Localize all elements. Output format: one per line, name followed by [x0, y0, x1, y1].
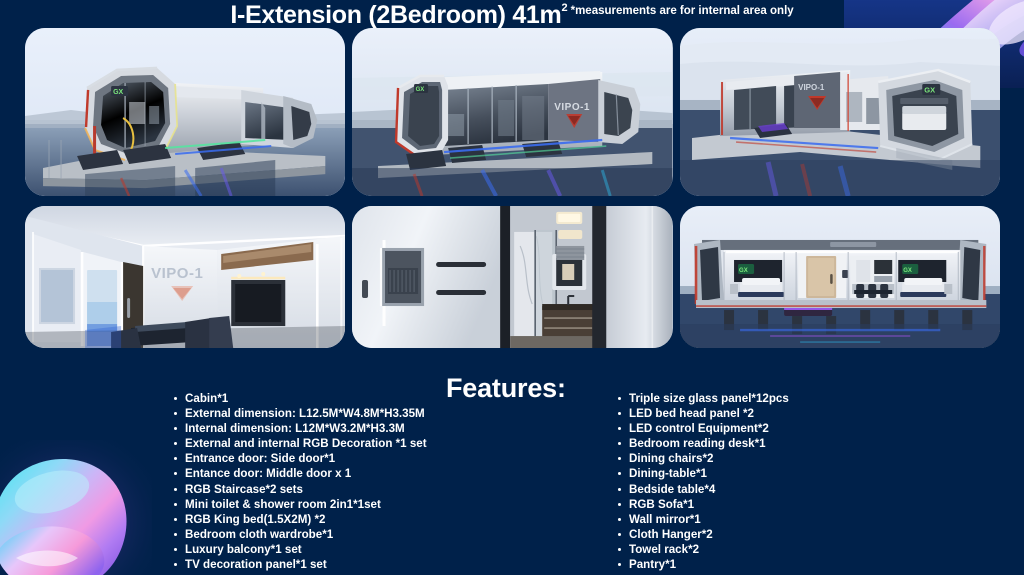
list-item: LED bed head panel *2 [616, 406, 789, 421]
gallery-row-bottom: VIPO-1 [25, 206, 1000, 348]
features-right-column: Triple size glass panel*12pcs LED bed he… [616, 391, 789, 572]
gallery-image-cutaway-floorplan-view[interactable]: GX [680, 206, 1000, 348]
list-item: Towel rack*2 [616, 542, 789, 557]
list-item: Luxury balcony*1 set [172, 542, 427, 557]
svg-text:GX: GX [903, 268, 912, 274]
list-item: Entrance door: Side door*1 [172, 451, 427, 466]
svg-text:VIPO-1: VIPO-1 [151, 265, 203, 282]
list-item: Dining-table*1 [616, 466, 789, 481]
list-item: Wall mirror*1 [616, 512, 789, 527]
svg-text:VIPO-1: VIPO-1 [798, 83, 825, 92]
poster-canvas: I-Extension (2Bedroom) 41m 2 *measuremen… [0, 0, 1024, 575]
image-gallery: GX [25, 28, 1000, 348]
svg-text:GX: GX [113, 89, 123, 96]
list-item: External and internal RGB Decoration *1 … [172, 436, 427, 451]
holographic-blob-bottom-left-icon [0, 440, 152, 575]
list-item: Cloth Hanger*2 [616, 527, 789, 542]
list-item: RGB King bed(1.5X2M) *2 [172, 512, 427, 527]
list-item: Triple size glass panel*12pcs [616, 391, 789, 406]
gallery-row-top: GX [25, 28, 1000, 196]
features-heading: Features: [446, 373, 566, 404]
svg-text:VIPO-1: VIPO-1 [555, 102, 591, 113]
list-item: Internal dimension: L12M*W3.2M*H3.3M [172, 421, 427, 436]
features-left-list: Cabin*1 External dimension: L12.5M*W4.8M… [172, 391, 427, 572]
list-item: Bedside table*4 [616, 482, 789, 497]
list-item: LED control Equipment*2 [616, 421, 789, 436]
list-item: Dining chairs*2 [616, 451, 789, 466]
list-item: Bedroom reading desk*1 [616, 436, 789, 451]
list-item: External dimension: L12.5M*W4.8M*H3.35M [172, 406, 427, 421]
gallery-image-exterior-rear-angle[interactable]: VIPO-1 GX [680, 28, 1000, 196]
svg-text:GX: GX [924, 85, 935, 94]
list-item: RGB Sofa*1 [616, 497, 789, 512]
gallery-image-interior-corridor-bathroom[interactable] [352, 206, 672, 348]
list-item: TV decoration panel*1 set [172, 557, 427, 572]
page-title-superscript: 2 [561, 3, 567, 14]
svg-text:GX: GX [739, 268, 748, 274]
page-title-text: I-Extension (2Bedroom) 41m [230, 1, 561, 30]
measurement-note: *measurements are for internal area only [571, 5, 794, 18]
list-item: Bedroom cloth wardrobe*1 [172, 527, 427, 542]
features-right-list: Triple size glass panel*12pcs LED bed he… [616, 391, 789, 572]
list-item: RGB Staircase*2 sets [172, 482, 427, 497]
svg-text:GX: GX [416, 87, 425, 93]
list-item: Entance door: Middle door x 1 [172, 466, 427, 481]
list-item: Pantry*1 [616, 557, 789, 572]
page-title: I-Extension (2Bedroom) 41m 2 *measuremen… [0, 1, 1024, 31]
list-item: Cabin*1 [172, 391, 427, 406]
features-left-column: Cabin*1 External dimension: L12.5M*W4.8M… [172, 391, 427, 572]
list-item: Mini toilet & shower room 2in1*1set [172, 497, 427, 512]
gallery-image-exterior-side-long[interactable]: GX VIPO-1 [352, 28, 672, 196]
gallery-image-interior-living-dining[interactable]: VIPO-1 [25, 206, 345, 348]
gallery-image-exterior-front-angle[interactable]: GX [25, 28, 345, 196]
